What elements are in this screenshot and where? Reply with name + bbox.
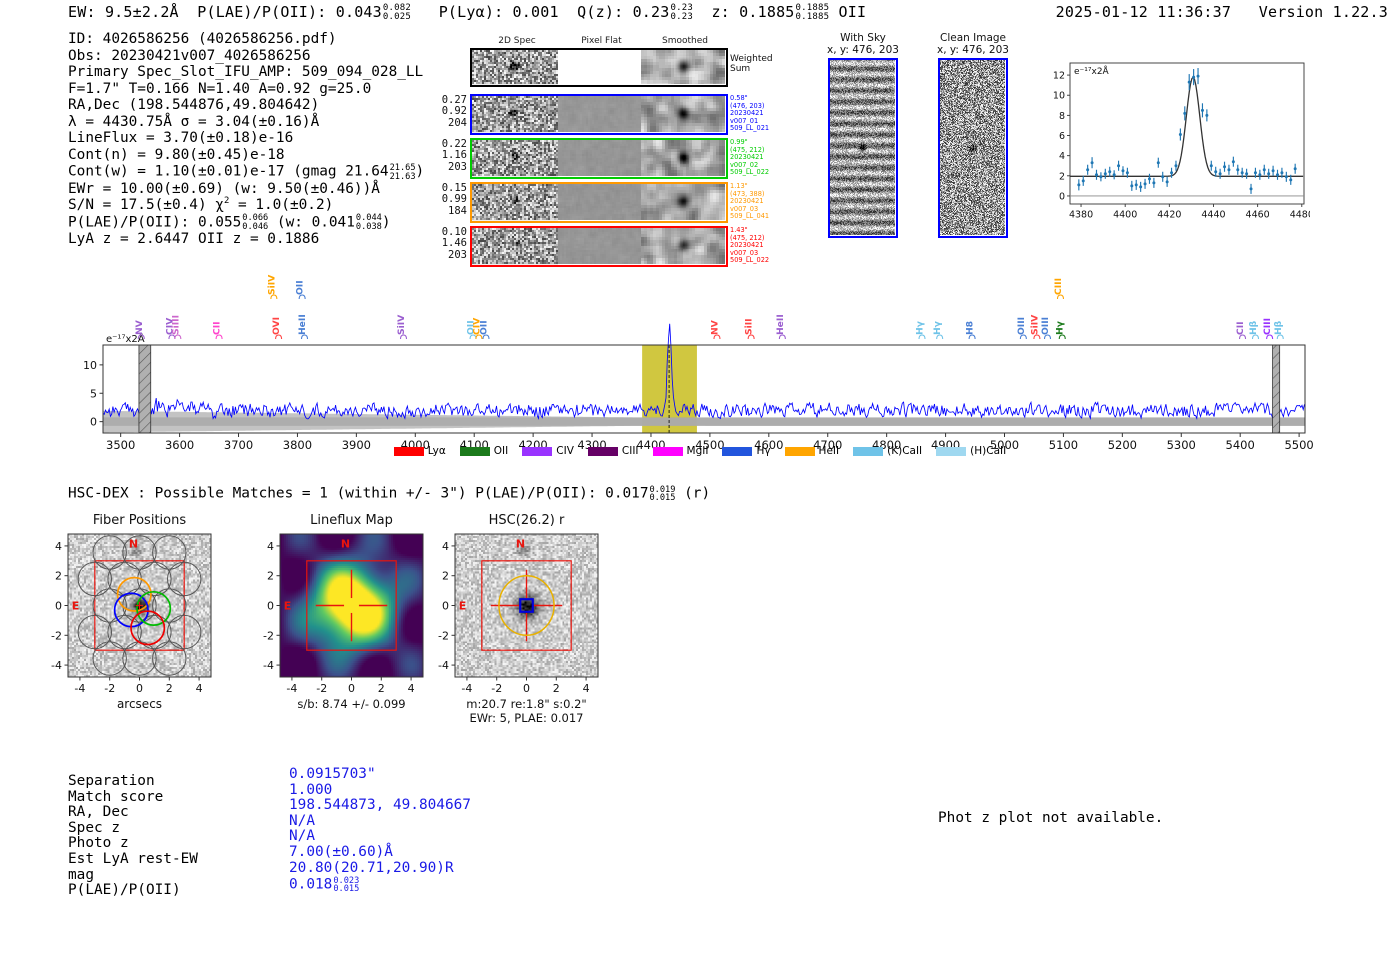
svg-text:CII: CII: [1235, 321, 1246, 335]
legend-swatch: [394, 447, 424, 456]
svg-text:Hβ: Hβ: [1248, 320, 1259, 335]
weighted-sum-label: Weighted Sum: [730, 54, 773, 74]
spec-row-meta: 0.99"(475, 212)20230421v007_02509_LL_022: [730, 139, 769, 177]
spec-row-2dspec: [472, 140, 558, 177]
legend-item-Hγ: Hγ: [722, 445, 770, 457]
info-plae: P(LAE)/P(OII): 0.0550.0660.046 (w: 0.041…: [68, 214, 424, 231]
svg-text:0: 0: [348, 682, 355, 695]
legend-item-(K)CaII: (K)CaII: [853, 445, 922, 457]
svg-text:SiIV: SiIV: [396, 314, 407, 335]
compass-e: E: [284, 600, 292, 613]
panel-caption: m:20.7 re:1.8" s:0.2": [466, 697, 586, 711]
spec-row-pixelflat: [558, 96, 641, 133]
plya-value: 0.001: [513, 3, 559, 21]
legend-label: CIV: [556, 445, 574, 457]
spec-row-meta: 1.13"(473, 388)20230421v007_03509_LL_041: [730, 183, 769, 221]
svg-text:-2: -2: [438, 629, 449, 642]
timestamp-version: 2025-01-12 11:36:37 Version 1.22.3: [1056, 3, 1388, 21]
cutout-panel-2: HSC(26.2) r-4-2024-4-2024NEm:20.7 re:1.8…: [438, 513, 598, 725]
z-value: 0.1885: [739, 3, 794, 21]
z-label: z:: [711, 3, 729, 21]
info-redshifts: LyA z = 2.6447 OII z = 0.1886: [68, 231, 424, 248]
compass-n: N: [129, 537, 138, 550]
svg-text:CIII: CIII: [1053, 278, 1064, 295]
svg-text:0: 0: [1059, 191, 1065, 202]
svg-text:-2: -2: [104, 682, 115, 695]
photoz-note: Phot z plot not available.: [938, 810, 1163, 826]
svg-text:-4: -4: [51, 659, 62, 672]
legend-label: Lyα: [428, 445, 446, 457]
svg-text:10: 10: [83, 359, 97, 372]
emission-line-zoom-plot: 024681012438044004420444044604480e⁻¹⁷x2Å: [1038, 55, 1310, 230]
svg-text:4: 4: [196, 682, 203, 695]
svg-text:0: 0: [55, 600, 62, 613]
with-sky-title: With Sky x, y: 476, 203: [818, 32, 908, 56]
weighted-sum-row: Weighted Sum: [470, 48, 728, 87]
info-id: ID: 4026586256 (4026586256.pdf): [68, 31, 424, 48]
svg-text:Hβ: Hβ: [1273, 320, 1284, 335]
info-lambda: λ = 4430.75Å σ = 3.04(±0.16)Å: [68, 114, 424, 131]
info-ewr: EWr = 10.00(±0.69) (w: 9.50(±0.46))Å: [68, 181, 424, 198]
svg-text:8: 8: [1059, 111, 1065, 122]
cutout-panels-row: Fiber Positions-4-2024-4-2024NEarcsecsLi…: [0, 505, 700, 735]
svg-text:CII: CII: [212, 321, 223, 335]
spec-row-3: 0.101.462031.43"(475, 212)20230421v007_0…: [470, 226, 728, 267]
spec-row-smoothed: [641, 140, 725, 177]
legend-label: HeII: [819, 445, 840, 457]
panel-caption: s/b: 8.74 +/- 0.099: [297, 697, 405, 711]
spec-row-stats: 0.101.46203: [433, 227, 467, 261]
svg-text:Hγ: Hγ: [915, 320, 926, 335]
svg-text:OIII: OIII: [1016, 317, 1027, 335]
legend-label: MgII: [687, 445, 709, 457]
col-title-2dspec: 2D Spec: [474, 36, 560, 46]
match-row-label: Est LyA rest-EW: [68, 852, 198, 868]
clean-image: [938, 58, 1008, 238]
legend-swatch: [588, 447, 618, 456]
match-row-value: 20.80(20.71,20.90)R: [289, 861, 471, 877]
with-sky-image: [828, 58, 898, 238]
z-type: OII: [839, 3, 867, 21]
spec-row-2dspec: [472, 96, 558, 133]
legend-item-(H)CaII: (H)CaII: [936, 445, 1006, 457]
emission-marker-OIII: OIII: [1040, 317, 1051, 339]
col-title-smoothed: Smoothed: [643, 36, 727, 46]
legend-item-Lyα: Lyα: [394, 445, 446, 457]
match-row-label: Spec z: [68, 821, 198, 837]
svg-text:0: 0: [90, 416, 97, 429]
spec-row-smoothed: [641, 228, 725, 265]
spec-row-pixelflat: [558, 140, 641, 177]
svg-text:4: 4: [55, 540, 62, 553]
svg-text:4460: 4460: [1246, 210, 1270, 221]
emission-marker-CII: CII: [212, 321, 223, 339]
info-cont-n: Cont(n) = 9.80(±0.45)e-18: [68, 147, 424, 164]
match-row-value: 1.000: [289, 783, 471, 799]
zoom-plot-svg: 024681012438044004420444044604480e⁻¹⁷x2Å: [1038, 55, 1310, 230]
legend-swatch: [460, 447, 490, 456]
legend-item-CIV: CIV: [522, 445, 574, 457]
svg-text:5: 5: [90, 387, 97, 400]
svg-text:2: 2: [267, 570, 274, 583]
spec-row-stats: 0.270.92204: [433, 95, 467, 129]
match-row-label: Match score: [68, 790, 198, 806]
plae-label: P(LAE)/P(OII):: [197, 3, 326, 21]
svg-text:2: 2: [442, 570, 449, 583]
match-row-value: 198.544873, 49.804667: [289, 798, 471, 814]
version-label: Version 1.22.3: [1259, 3, 1388, 21]
panel-title: HSC(26.2) r: [489, 513, 565, 528]
emission-marker-OII: OII: [295, 280, 306, 299]
info-primary-spec: Primary Spec_Slot_IFU_AMP: 509_094_028_L…: [68, 64, 424, 81]
svg-text:4400: 4400: [1113, 210, 1137, 221]
plya-label: P(Lyα):: [439, 3, 504, 21]
plae-lo: 0.025: [383, 13, 411, 22]
svg-text:-4: -4: [263, 659, 274, 672]
emission-marker-Hγ: Hγ: [1055, 320, 1066, 339]
spec-row-stats: 0.221.16203: [433, 139, 467, 173]
svg-text:CIII: CIII: [1262, 318, 1273, 335]
legend-label: (K)CaII: [887, 445, 922, 457]
legend-swatch: [936, 447, 966, 456]
svg-text:SiIII: SiIII: [170, 315, 181, 335]
svg-text:OII: OII: [478, 320, 489, 335]
emission-line-legend: LyαOIICIVCIIIMgIIHγHeII(K)CaII(H)CaII: [0, 445, 1400, 457]
legend-label: Hγ: [756, 445, 770, 457]
legend-item-CIII: CIII: [588, 445, 639, 457]
svg-text:-4: -4: [438, 659, 449, 672]
svg-text:-2: -2: [316, 682, 327, 695]
qz-value: 0.23: [633, 3, 670, 21]
emission-marker-SiIII: SiIII: [170, 315, 181, 339]
svg-text:SiII: SiII: [744, 318, 755, 335]
emission-marker-OIII: OIII: [1016, 317, 1027, 339]
svg-text:-2: -2: [51, 629, 62, 642]
weighted-sum-smoothed: [641, 50, 725, 85]
legend-item-HeII: HeII: [785, 445, 840, 457]
svg-text:-4: -4: [286, 682, 297, 695]
spec-row-1: 0.221.162030.99"(475, 212)20230421v007_0…: [470, 138, 728, 179]
spec-row-stats: 0.150.99184: [433, 183, 467, 217]
spec-row-0: 0.270.922040.58"(476, 203)20230421v007_0…: [470, 94, 728, 135]
compass-n: N: [516, 537, 525, 550]
svg-text:4: 4: [408, 682, 415, 695]
emission-marker-Hγ: Hγ: [932, 320, 943, 339]
z-lo: 0.1885: [796, 13, 830, 22]
panel-title: Fiber Positions: [93, 513, 186, 528]
svg-text:2: 2: [1059, 171, 1065, 182]
full-spectrum-panel: 0510350036003700380039004000410042004300…: [0, 265, 1400, 450]
svg-text:0: 0: [523, 682, 530, 695]
emission-marker-CIII: CIII: [1262, 318, 1273, 339]
svg-text:-4: -4: [461, 682, 472, 695]
source-info-block: ID: 4026586256 (4026586256.pdf) Obs: 202…: [68, 31, 424, 248]
hsc-dex-headline: HSC-DEX : Possible Matches = 1 (within +…: [68, 485, 710, 502]
compass-n: N: [341, 537, 350, 550]
spec-row-pixelflat: [558, 184, 641, 221]
legend-label: CIII: [622, 445, 639, 457]
info-params: F=1.7" T=0.166 N=1.40 A=0.92 g=25.0: [68, 81, 424, 98]
svg-text:4480: 4480: [1290, 210, 1310, 221]
emission-marker-HeII: HeII: [775, 314, 786, 339]
emission-marker-HeII: HeII: [297, 314, 308, 339]
spec-row-meta: 1.43"(475, 212)20230421v007_03509_LL_022: [730, 227, 769, 265]
weighted-sum-2dspec: [472, 50, 558, 85]
emission-marker-Hβ: Hβ: [1273, 320, 1284, 339]
clean-image-title: Clean Image x, y: 476, 203: [922, 32, 1024, 56]
svg-text:0: 0: [136, 682, 143, 695]
plae-value: 0.043: [336, 3, 382, 21]
svg-text:SiIV: SiIV: [1029, 314, 1040, 335]
svg-text:2: 2: [55, 570, 62, 583]
legend-label: OII: [494, 445, 508, 457]
svg-text:SiIV: SiIV: [266, 274, 277, 295]
svg-text:10: 10: [1053, 91, 1065, 102]
match-row-value: 7.00(±0.60)Å: [289, 845, 471, 861]
svg-text:4440: 4440: [1201, 210, 1225, 221]
panel-xlabel: arcsecs: [117, 697, 162, 711]
compass-e: E: [72, 600, 80, 613]
svg-text:4: 4: [583, 682, 590, 695]
col-title-pixelflat: Pixel Flat: [560, 36, 643, 46]
emission-marker-SiIV: SiIV: [1029, 314, 1040, 339]
spec-row-smoothed: [641, 96, 725, 133]
svg-text:4420: 4420: [1157, 210, 1181, 221]
weighted-sum-pixelflat: [558, 50, 641, 85]
match-row-value: 0.0180.0230.015: [289, 876, 471, 893]
spec-row-meta: 0.58"(476, 203)20230421v007_01509_LL_021: [730, 95, 769, 133]
match-table-values: 0.0915703"1.000198.544873, 49.804667N/AN…: [289, 767, 471, 893]
emission-marker-SiIV: SiIV: [266, 274, 277, 299]
full-spectrum-svg: 0510350036003700380039004000410042004300…: [0, 265, 1400, 450]
svg-text:0: 0: [267, 600, 274, 613]
info-snr: S/N = 17.5(±0.4) χ2 = 1.0(±0.2): [68, 197, 424, 214]
match-row-label: Separation: [68, 774, 198, 790]
info-radec: RA,Dec (198.544876,49.804642): [68, 97, 424, 114]
legend-swatch: [785, 447, 815, 456]
svg-text:HeII: HeII: [297, 314, 308, 335]
svg-text:Hγ: Hγ: [1055, 320, 1066, 335]
qz-label: Q(z):: [577, 3, 623, 21]
svg-text:-2: -2: [491, 682, 502, 695]
match-row-value: 0.0915703": [289, 767, 471, 783]
spec-row-2dspec: [472, 228, 558, 265]
svg-text:4: 4: [1059, 151, 1065, 162]
info-lineflux: LineFlux = 3.70(±0.18)e-16: [68, 130, 424, 147]
ew-value: 9.5±2.2Å: [105, 3, 179, 21]
legend-label: (H)CaII: [970, 445, 1006, 457]
svg-text:2: 2: [166, 682, 173, 695]
info-cont-w: Cont(w) = 1.10(±0.01)e-17 (gmag 21.6421.…: [68, 163, 424, 180]
info-obs: Obs: 20230421v007_4026586256: [68, 48, 424, 65]
svg-text:4: 4: [267, 540, 274, 553]
emission-marker-Hβ: Hβ: [1248, 320, 1259, 339]
match-row-label: Photo z: [68, 836, 198, 852]
svg-text:H8: H8: [965, 321, 976, 335]
emission-marker-H8: H8: [965, 321, 976, 339]
legend-swatch: [722, 447, 752, 456]
svg-text:0: 0: [442, 600, 449, 613]
match-row-label: RA, Dec: [68, 805, 198, 821]
spec-row-pixelflat: [558, 228, 641, 265]
svg-text:4380: 4380: [1069, 210, 1093, 221]
svg-text:e⁻¹⁷x2Å: e⁻¹⁷x2Å: [1074, 65, 1110, 77]
match-row-label: mag: [68, 868, 198, 884]
match-row-value: N/A: [289, 814, 471, 830]
timestamp: 2025-01-12 11:36:37: [1056, 3, 1231, 21]
match-row-label: P(LAE)/P(OII): [68, 883, 198, 899]
cutout-panel-1: Lineflux Map-4-2024-4-2024NEs/b: 8.74 +/…: [263, 513, 423, 711]
emission-marker-OII: OII: [478, 320, 489, 339]
svg-text:2: 2: [553, 682, 560, 695]
match-table-labels: SeparationMatch scoreRA, DecSpec zPhoto …: [68, 774, 198, 899]
match-row-value: N/A: [289, 829, 471, 845]
panel-title: Lineflux Map: [310, 513, 393, 528]
compass-e: E: [459, 600, 467, 613]
spec-row-2dspec: [472, 184, 558, 221]
svg-text:OII: OII: [295, 280, 306, 295]
legend-swatch: [653, 447, 683, 456]
svg-text:HeII: HeII: [775, 314, 786, 335]
panel-caption: EWr: 5, PLAE: 0.017: [470, 711, 584, 725]
svg-text:NV: NV: [709, 319, 720, 335]
svg-text:2: 2: [378, 682, 385, 695]
svg-text:-2: -2: [263, 629, 274, 642]
spec-row-2: 0.150.991841.13"(473, 388)20230421v007_0…: [470, 182, 728, 223]
svg-text:4: 4: [442, 540, 449, 553]
emission-marker-SiIV: SiIV: [396, 314, 407, 339]
svg-text:12: 12: [1053, 71, 1065, 82]
legend-item-OII: OII: [460, 445, 508, 457]
ew-label: EW:: [68, 3, 96, 21]
svg-text:-4: -4: [74, 682, 85, 695]
svg-text:OVI: OVI: [271, 317, 282, 335]
emission-marker-OVI: OVI: [271, 317, 282, 339]
svg-text:OIII: OIII: [1040, 317, 1051, 335]
emission-marker-NV: NV: [709, 319, 720, 339]
svg-text:NV: NV: [134, 319, 145, 335]
cutout-panel-0: Fiber Positions-4-2024-4-2024NEarcsecs: [51, 513, 211, 711]
svg-text:6: 6: [1059, 131, 1065, 142]
spec-row-smoothed: [641, 184, 725, 221]
summary-header: EW: 9.5±2.2Å P(LAE)/P(OII): 0.0430.0820.…: [68, 3, 866, 22]
emission-marker-CIII: CIII: [1053, 278, 1064, 299]
emission-marker-SiII: SiII: [744, 318, 755, 339]
qz-lo: 0.23: [671, 13, 693, 22]
emission-marker-Hγ: Hγ: [915, 320, 926, 339]
emission-marker-CII: CII: [1235, 321, 1246, 339]
cutout-panels-svg: Fiber Positions-4-2024-4-2024NEarcsecsLi…: [0, 505, 700, 735]
legend-swatch: [853, 447, 883, 456]
legend-item-MgII: MgII: [653, 445, 709, 457]
svg-text:Hγ: Hγ: [932, 320, 943, 335]
legend-swatch: [522, 447, 552, 456]
